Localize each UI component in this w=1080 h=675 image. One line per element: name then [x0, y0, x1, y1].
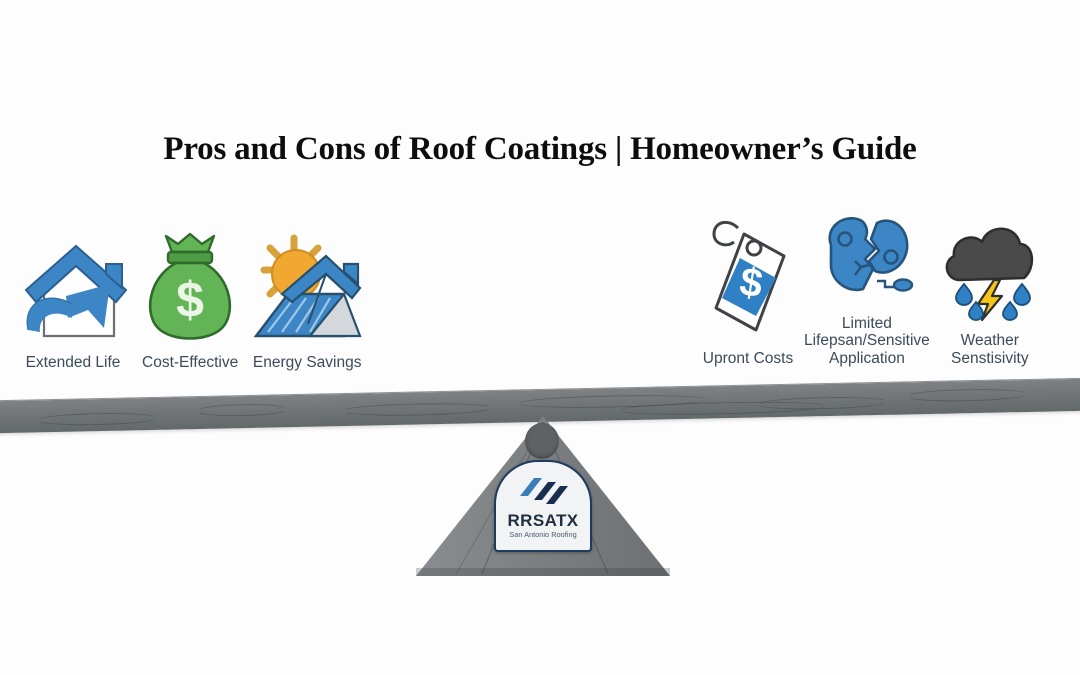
company-logo-badge: RRSATX San Antonio Roofing: [494, 460, 592, 552]
cracked-peeling-coating-icon: [815, 205, 919, 310]
storm-cloud-rain-lightning-icon: [938, 210, 1042, 327]
logo-tagline: San Antonio Roofing: [509, 531, 576, 538]
con-item-upfront-costs: $ Upront Costs: [700, 212, 796, 367]
pro-item-cost-effective: $ Cost-Effective: [142, 232, 238, 371]
logo-bars-icon: [516, 474, 570, 508]
house-with-upward-arrow-icon: [14, 232, 132, 349]
seesaw-fulcrum: RRSATX San Antonio Roofing: [412, 416, 674, 578]
con-item-weather-sensitivity: Weather Senstisivity: [938, 210, 1042, 367]
fulcrum-pivot-circle: [525, 423, 559, 459]
infographic-canvas: Pros and Cons of Roof Coatings | Homeown…: [0, 0, 1080, 675]
pro-label-extended-life: Extended Life: [26, 354, 121, 371]
page-title: Pros and Cons of Roof Coatings | Homeown…: [0, 131, 1080, 168]
sun-over-solar-roof-icon: [248, 232, 366, 349]
svg-text:$: $: [176, 272, 204, 328]
price-tag-dollar-icon: $: [700, 212, 796, 345]
money-bag-icon: $: [142, 232, 238, 349]
pro-item-energy-savings: Energy Savings: [248, 232, 366, 371]
cons-group: $ Upront Costs Limited Lifepsan/Sensitiv…: [700, 205, 1050, 367]
logo-company-name: RRSATX: [507, 512, 578, 529]
con-label-upfront-costs: Upront Costs: [703, 350, 793, 367]
pro-label-cost-effective: Cost-Effective: [142, 354, 238, 371]
pro-label-energy-savings: Energy Savings: [253, 354, 362, 371]
pros-group: Extended Life $ Cost-Effective: [14, 232, 376, 371]
pro-item-extended-life: Extended Life: [14, 232, 132, 371]
con-item-limited-lifespan: Limited Lifepsan/Sensitive Application: [804, 205, 930, 367]
con-label-limited-lifespan: Limited Lifepsan/Sensitive Application: [804, 315, 930, 367]
con-label-weather-sensitivity: Weather Senstisivity: [951, 332, 1029, 367]
